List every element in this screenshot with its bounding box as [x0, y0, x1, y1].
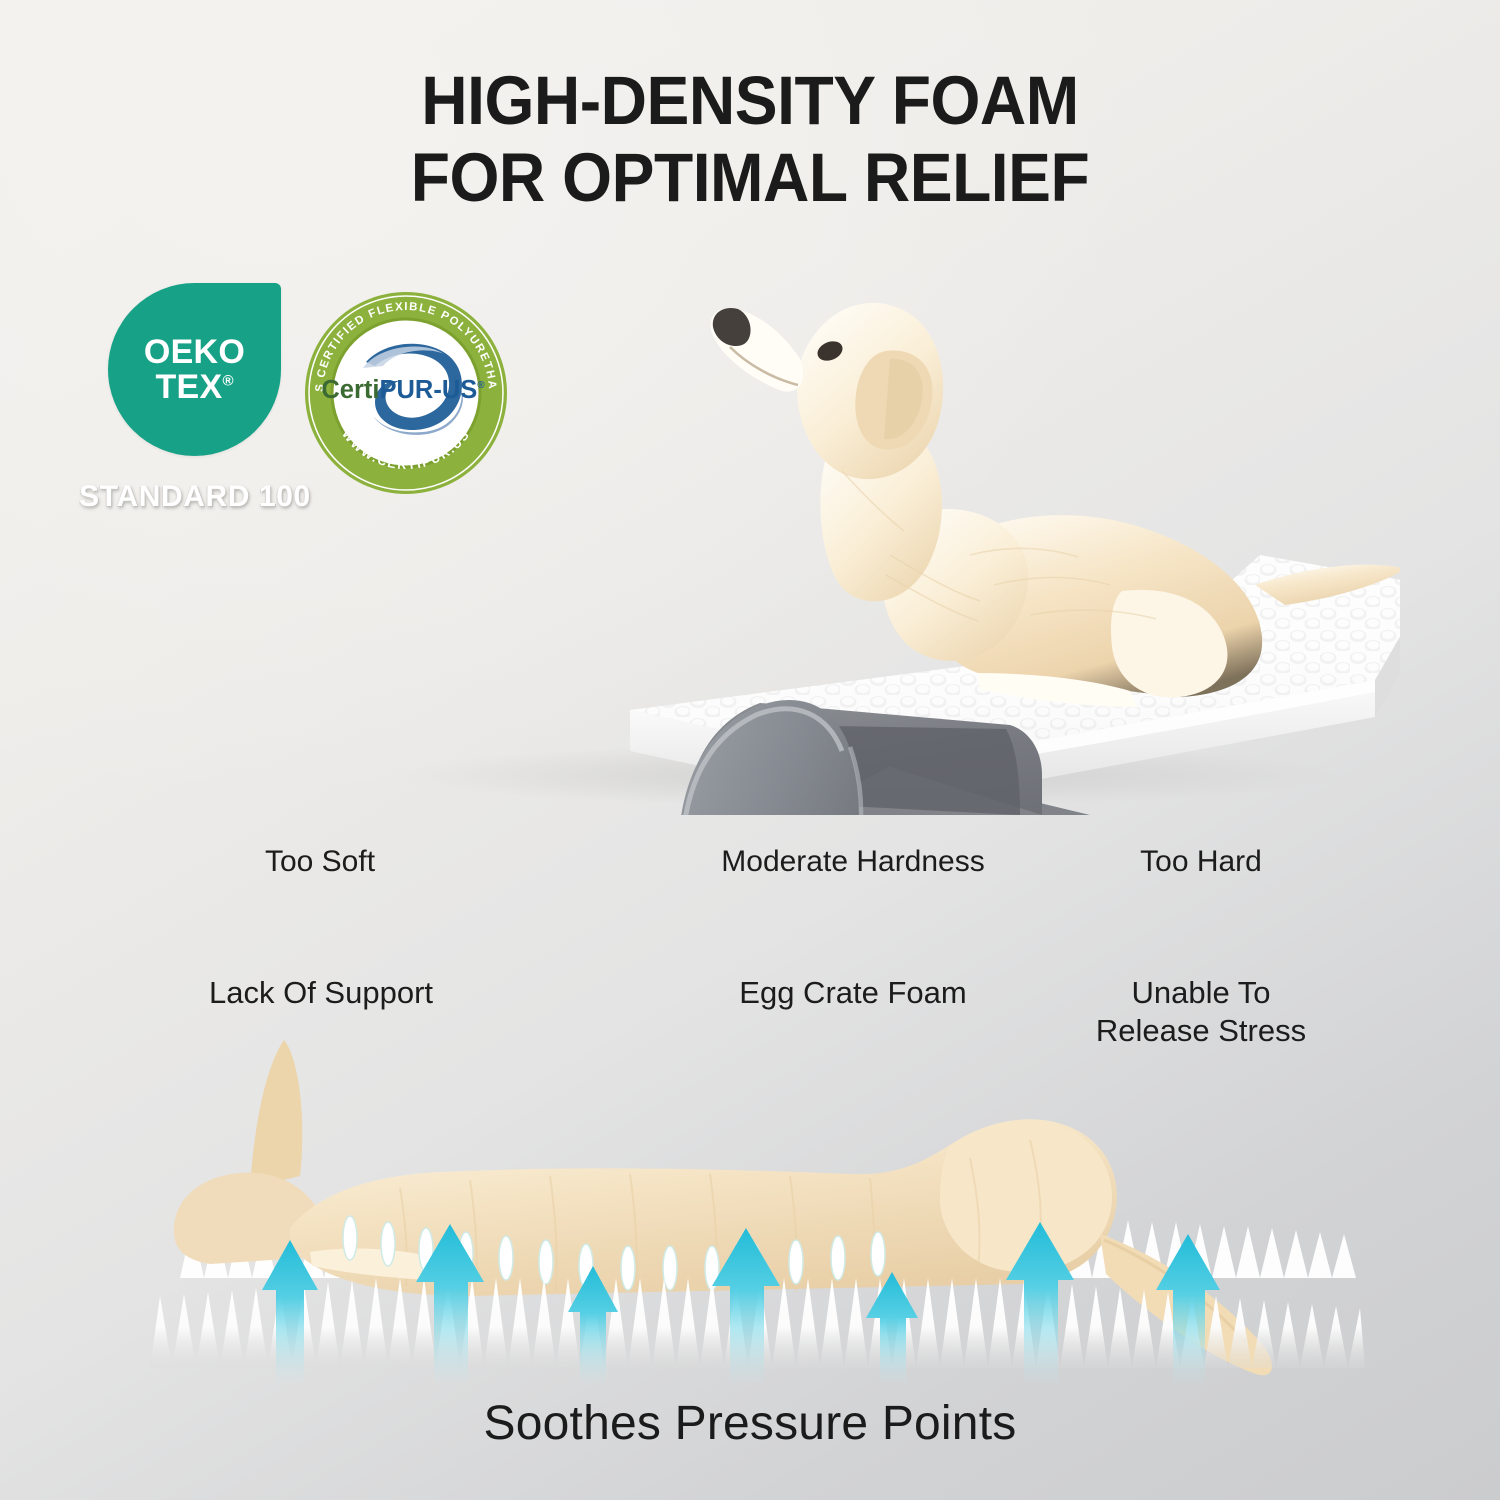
headline-line-1: HIGH-DENSITY FOAM: [421, 62, 1079, 139]
scale-bottom-label-moderate-line1: Egg Crate Foam: [739, 975, 966, 1010]
scale-bottom-label-hard-line1: Unable To: [1096, 974, 1306, 1012]
scale-top-label-soft: Too Soft: [265, 845, 375, 879]
dog-on-orthopedic-bed-illustration: [330, 255, 1400, 815]
oeko-tex-badge: OEKO TEX® STANDARD 100: [108, 283, 288, 514]
scale-bottom-label-soft: Lack Of Support: [209, 974, 433, 1012]
product-hero-image: [330, 255, 1400, 815]
dog-silhouette: [174, 1040, 1272, 1375]
oeko-tex-standard-label: STANDARD 100: [76, 479, 314, 514]
scale-top-label-moderate: Moderate Hardness: [721, 845, 984, 879]
oeko-tex-registered-mark: ®: [222, 372, 233, 389]
hardness-scale: Too Soft Moderate Hardness Too Hard 1 6.…: [0, 843, 1500, 1043]
dog-on-egg-crate-foam-illustration: [150, 1028, 1365, 1383]
oeko-tex-line-2: TEX®: [155, 370, 233, 405]
oeko-tex-line-1: OEKO: [144, 335, 245, 370]
oeko-tex-droplet-icon: OEKO TEX®: [108, 283, 281, 456]
scale-bottom-label-soft-line1: Lack Of Support: [209, 975, 433, 1010]
pressure-relief-image: [150, 1028, 1365, 1383]
infographic-page: HIGH-DENSITY FOAM FOR OPTIMAL RELIEF OEK…: [0, 0, 1500, 1500]
oeko-tex-line-2-text: TEX: [155, 368, 222, 406]
footer-caption: Soothes Pressure Points: [0, 1396, 1500, 1451]
scale-bottom-label-moderate: Egg Crate Foam: [739, 974, 966, 1012]
headline-line-2: FOR OPTIMAL RELIEF: [53, 139, 1448, 216]
page-title: HIGH-DENSITY FOAM FOR OPTIMAL RELIEF: [53, 62, 1448, 217]
scale-top-label-hard: Too Hard: [1140, 845, 1262, 879]
